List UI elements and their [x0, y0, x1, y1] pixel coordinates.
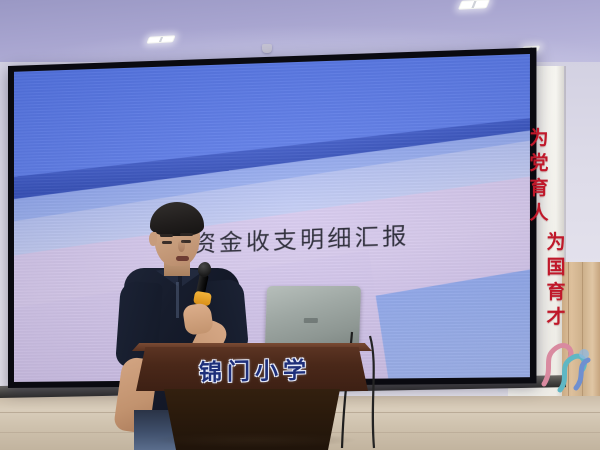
smoke-detector-icon: [262, 44, 272, 53]
presenter-ear: [149, 232, 157, 246]
photo-scene: 乐资金收支明细汇报 为党育人 为国育才: [0, 0, 600, 450]
wall-calligraphy-line-1: 为党育人: [528, 126, 550, 226]
ribbon-decoration: [540, 338, 596, 398]
presenter-brow-right: [180, 233, 193, 236]
lectern-sign-text: 锦门小学: [160, 350, 350, 389]
presenter-mouth: [176, 256, 189, 261]
presenter-nose: [178, 240, 185, 252]
presenter-shirt-placket: [176, 282, 179, 318]
wall-calligraphy-line-2: 为国育才: [545, 230, 567, 330]
ribbon-decoration-icon: [540, 338, 596, 398]
presenter-hair: [150, 202, 204, 236]
presenter-eye-left: [162, 241, 172, 244]
presenter-brow-left: [160, 234, 173, 237]
laptop-logo: [304, 318, 318, 323]
floor-shadow: [120, 430, 390, 450]
